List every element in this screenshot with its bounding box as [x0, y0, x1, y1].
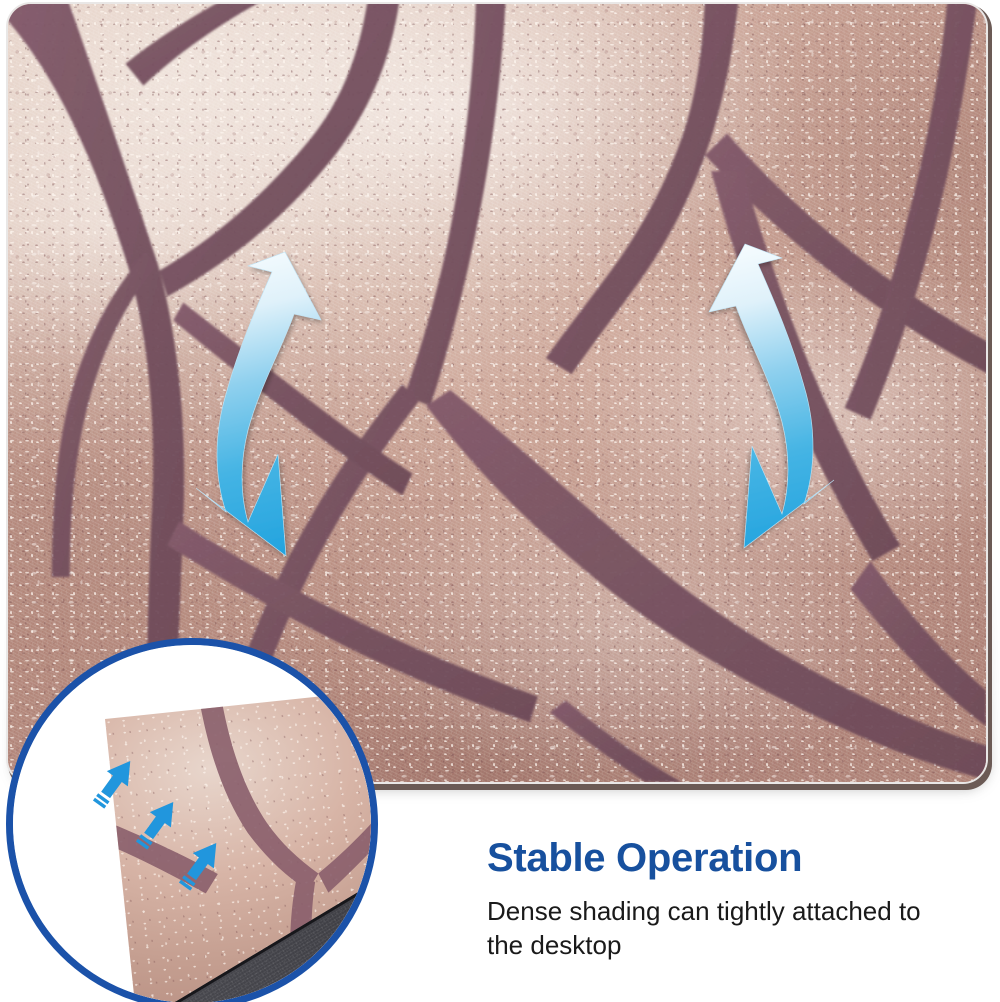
feature-text-block: Stable Operation Dense shading can tight…	[487, 838, 957, 963]
hand-lifting-pad-corner	[205, 735, 385, 965]
grip-arrow-2	[131, 794, 184, 853]
curved-double-arrow-right-icon	[690, 236, 840, 566]
curved-double-arrow-left-icon	[190, 244, 340, 574]
feature-headline: Stable Operation	[487, 838, 957, 878]
grip-arrow-1	[88, 753, 141, 812]
product-image-canvas: Stable Operation Dense shading can tight…	[0, 0, 1000, 1002]
feature-description: Dense shading can tightly attached to th…	[487, 894, 957, 963]
